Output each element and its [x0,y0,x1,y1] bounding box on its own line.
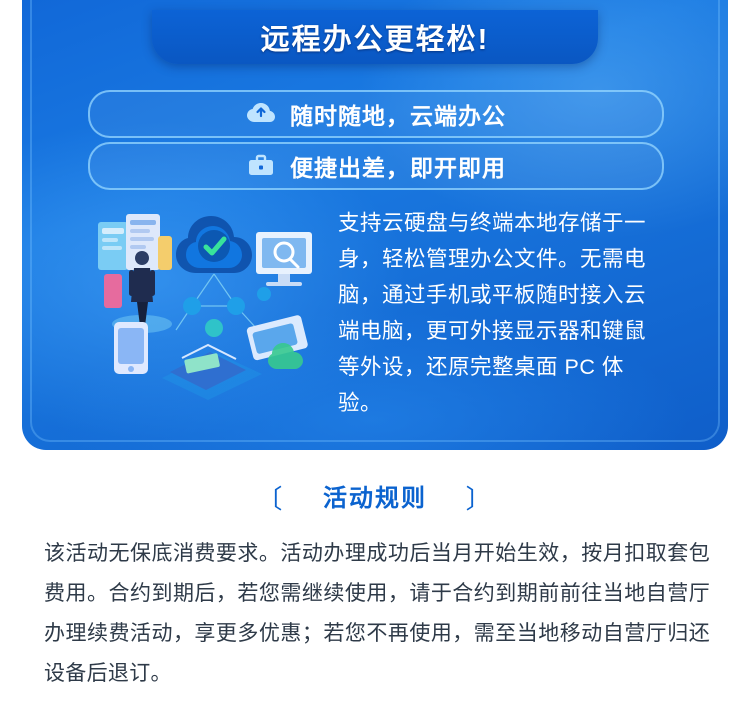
rules-text: 该活动无保底消费要求。活动办理成功后当月开始生效，按月扣取套包费用。合约到期后，… [44,534,710,694]
banner-description: 支持云硬盘与终端本地存储于一身，轻松管理办公文件。无需电脑，通过手机或平板随时接… [338,205,664,421]
page-title: 远程办公更轻松! [261,16,490,58]
feature-pill-briefcase-label: 便捷出差，即开即用 [290,149,506,183]
feature-pill-cloud: 随时随地，云端办公 [88,90,664,138]
briefcase-icon [246,153,276,179]
cloud-office-illustration [96,202,316,402]
feature-pill-cloud-label: 随时随地，云端办公 [290,97,506,131]
banner-title-badge: 远程办公更轻松! [152,10,598,64]
bracket-left-icon: 〔 [256,479,284,516]
cloud-icon [246,101,276,127]
bracket-right-icon: 〕 [466,479,494,516]
rules-heading: 活动规则 [323,485,427,512]
rules-heading-row: 〔 活动规则 〕 [0,478,750,516]
promo-page: 远程办公更轻松! 随时随地，云端办公 便捷出差，即开即用 [0,0,750,716]
feature-pill-briefcase: 便捷出差，即开即用 [88,142,664,190]
